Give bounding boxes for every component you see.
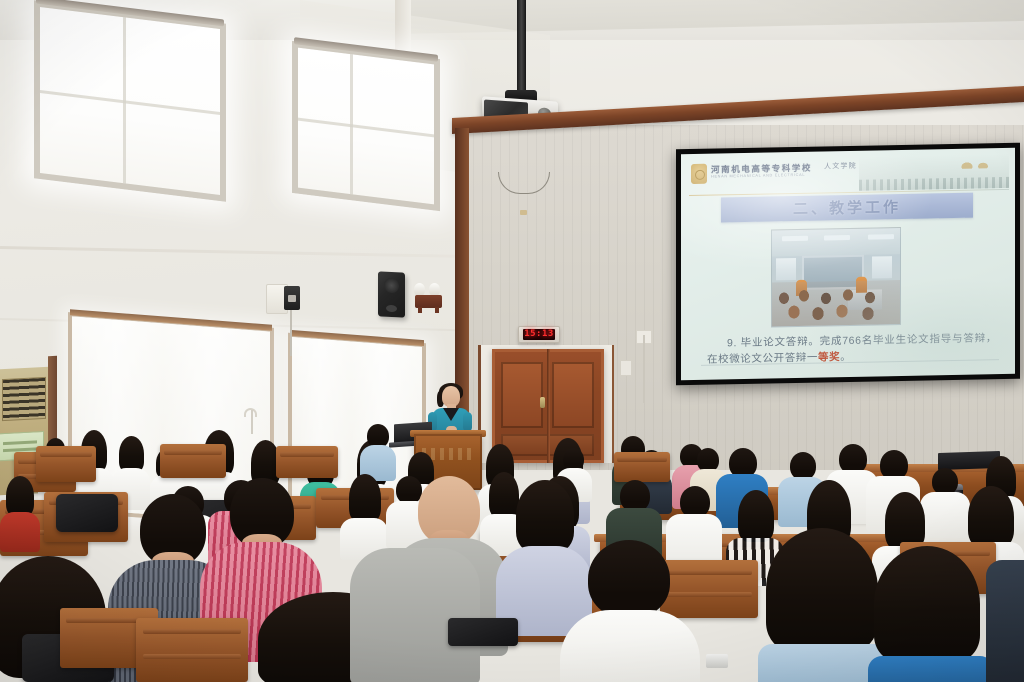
clock-display: 15:13 — [523, 329, 555, 340]
projection-screen: 河南机电高等专科学校 HENAN MECHANICAL AND ELECTRIC… — [681, 148, 1015, 380]
torso — [986, 560, 1024, 682]
slide-title-bar: 二、教学工作 — [721, 193, 973, 223]
switch-cord — [290, 310, 292, 356]
photo-audience — [772, 280, 900, 326]
chair-slat — [617, 457, 666, 462]
hair — [968, 486, 1014, 548]
chair-slat — [164, 450, 222, 455]
torso — [560, 610, 700, 682]
chair-slat — [280, 452, 335, 457]
window-mullion-horizontal — [298, 118, 434, 138]
torso — [350, 548, 480, 682]
wooden-chair — [276, 446, 338, 478]
lecture-hall-photo: 河南机电高等专科学校 HENAN MECHANICAL AND ELECTRIC… — [0, 0, 1024, 682]
wooden-chair — [160, 444, 226, 478]
slide-section-title: 二、教学工作 — [793, 196, 901, 219]
audience-member — [0, 476, 40, 546]
audience-member — [986, 560, 1024, 682]
chair-slat — [40, 452, 93, 457]
wooden-chair — [136, 618, 248, 682]
photo-light — [782, 236, 808, 241]
hair — [119, 436, 144, 472]
wall-marking — [520, 210, 527, 215]
upper-window-left — [34, 0, 226, 202]
slide-department: 人文学院 — [824, 161, 857, 172]
wall-outlet[interactable] — [620, 360, 632, 376]
projection-screen-frame: 河南机电高等专科学校 HENAN MECHANICAL AND ELECTRIC… — [676, 143, 1020, 386]
photo-ceiling — [772, 228, 900, 256]
audience-member — [868, 546, 994, 682]
photo-window — [872, 256, 892, 278]
slide-university-name-en: HENAN MECHANICAL AND ELECTRICAL — [711, 173, 805, 179]
digital-wall-clock: 15:13 — [518, 326, 560, 343]
torso — [0, 512, 40, 552]
door-panel-left — [501, 362, 543, 428]
audience-member — [350, 548, 480, 682]
wall-cord — [251, 410, 253, 434]
audience-member — [360, 424, 396, 478]
wall-speaker — [378, 271, 405, 317]
door-handle[interactable] — [540, 397, 545, 408]
slide-header: 河南机电高等专科学校 HENAN MECHANICAL AND ELECTRIC… — [689, 154, 1009, 196]
slide-header-artwork — [859, 154, 1009, 191]
upper-window-right — [292, 41, 440, 211]
hair — [766, 528, 878, 652]
chair-slat — [143, 629, 242, 634]
audience-member-white-shirt — [560, 540, 700, 682]
backpack — [448, 618, 518, 646]
university-logo-icon — [691, 164, 707, 184]
wooden-chair — [614, 452, 670, 482]
wall-conduit — [643, 335, 645, 403]
projector-pole — [517, 0, 526, 95]
lamp-bracket — [415, 295, 442, 308]
wooden-chair — [36, 446, 96, 482]
wall-control-box[interactable] — [284, 286, 300, 310]
vent-louvers — [2, 377, 46, 421]
torso — [868, 656, 994, 682]
photo-light — [868, 234, 894, 239]
hair — [6, 476, 34, 516]
window-mullion-horizontal — [40, 90, 220, 115]
hair — [874, 546, 980, 662]
presenter-arm-right — [463, 412, 472, 432]
audience-member — [340, 474, 388, 554]
head — [790, 452, 816, 480]
head — [588, 540, 670, 618]
clock-time-text: 15:13 — [524, 330, 554, 339]
door-panel-right — [552, 362, 594, 428]
photo-light — [824, 235, 850, 240]
hair — [349, 474, 381, 522]
mobile-phone[interactable] — [706, 654, 728, 668]
photo-window — [776, 258, 796, 280]
slide-embedded-photo — [771, 227, 901, 327]
chair-slat — [143, 654, 242, 659]
